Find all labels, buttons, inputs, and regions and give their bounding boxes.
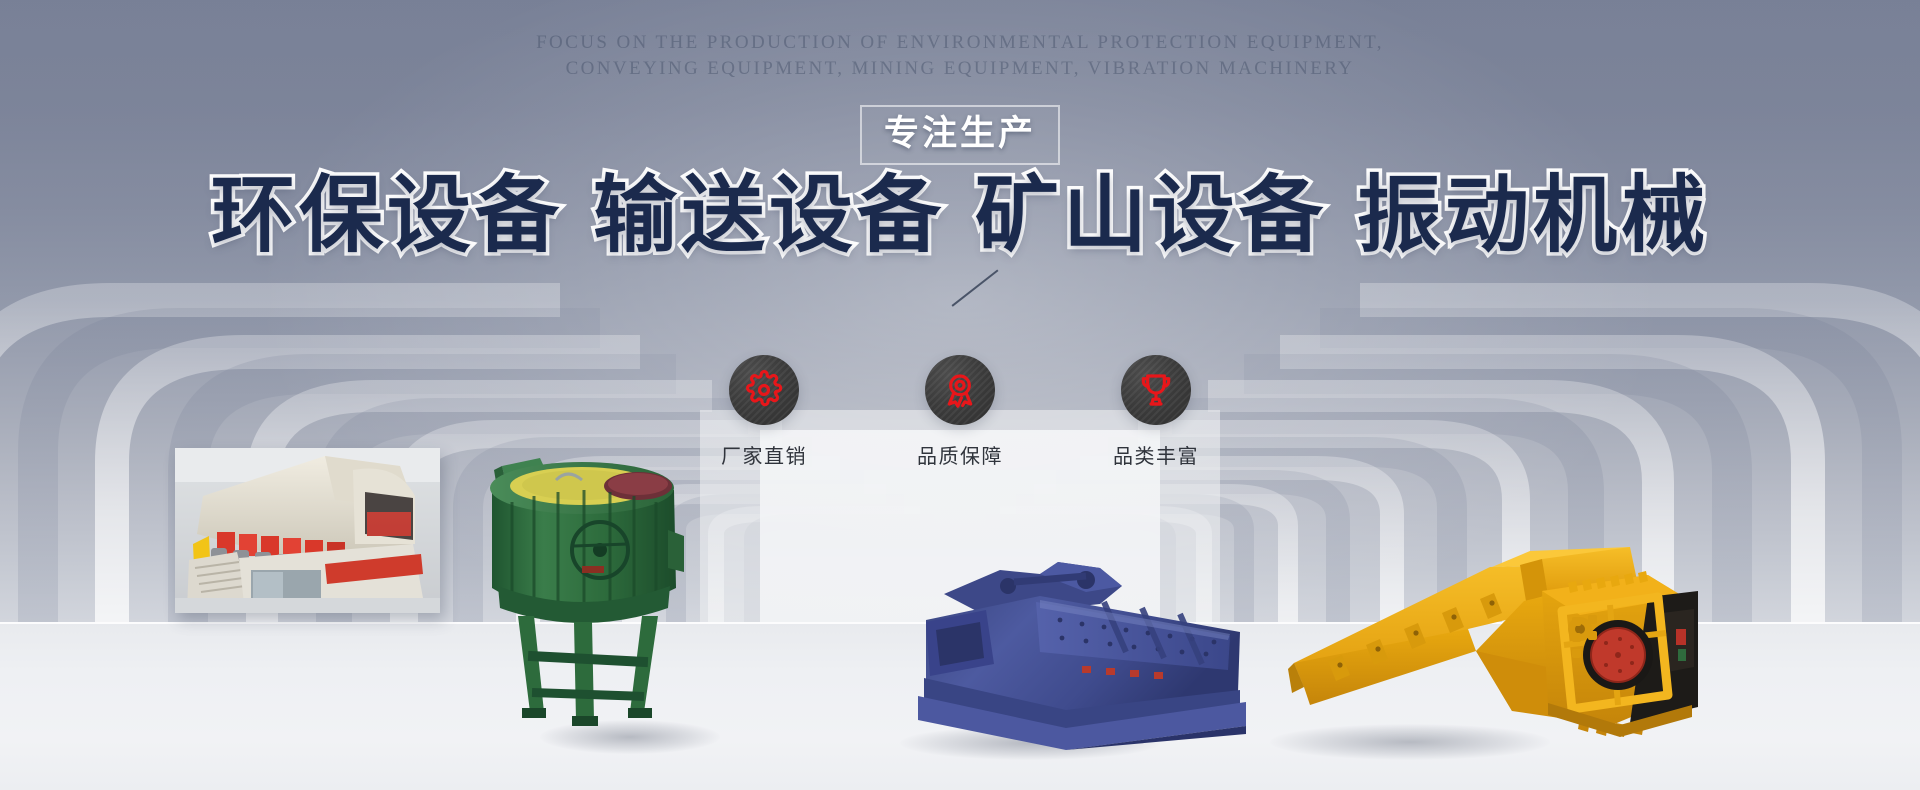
headline-part-2: 输送设备: [593, 168, 945, 262]
feature-label: 品类丰富: [1113, 447, 1199, 467]
yellow-crusher-machine: [1280, 545, 1700, 760]
gear-icon: [729, 355, 799, 425]
headline-part-4: 振动机械: [1357, 168, 1709, 262]
feature-label: 厂家直销: [721, 447, 807, 467]
feature-item-factory-direct[interactable]: 厂家直销: [705, 355, 823, 467]
screening-plant-machine: [175, 448, 440, 613]
feature-item-rich-variety[interactable]: 品类丰富: [1097, 355, 1215, 467]
trophy-icon: [1121, 355, 1191, 425]
hero-banner: FOCUS ON THE PRODUCTION OF ENVIRONMENTAL…: [0, 0, 1920, 790]
green-mixer-machine: [478, 440, 688, 730]
focus-badge: 专注生产: [860, 105, 1060, 165]
blue-vibrating-screen: [890, 560, 1260, 750]
headline-part-3: 矿山设备: [975, 168, 1327, 262]
medal-icon: [925, 355, 995, 425]
feature-label: 品质保障: [917, 447, 1003, 467]
page-title: 环保设备输送设备矿山设备振动机械: [0, 168, 1920, 262]
eyebrow-tagline: FOCUS ON THE PRODUCTION OF ENVIRONMENTAL…: [0, 30, 1920, 82]
headline-part-1: 环保设备: [211, 168, 563, 262]
feature-item-quality-assurance[interactable]: 品质保障: [901, 355, 1019, 467]
feature-list: 厂家直销 品质保障: [705, 355, 1215, 467]
